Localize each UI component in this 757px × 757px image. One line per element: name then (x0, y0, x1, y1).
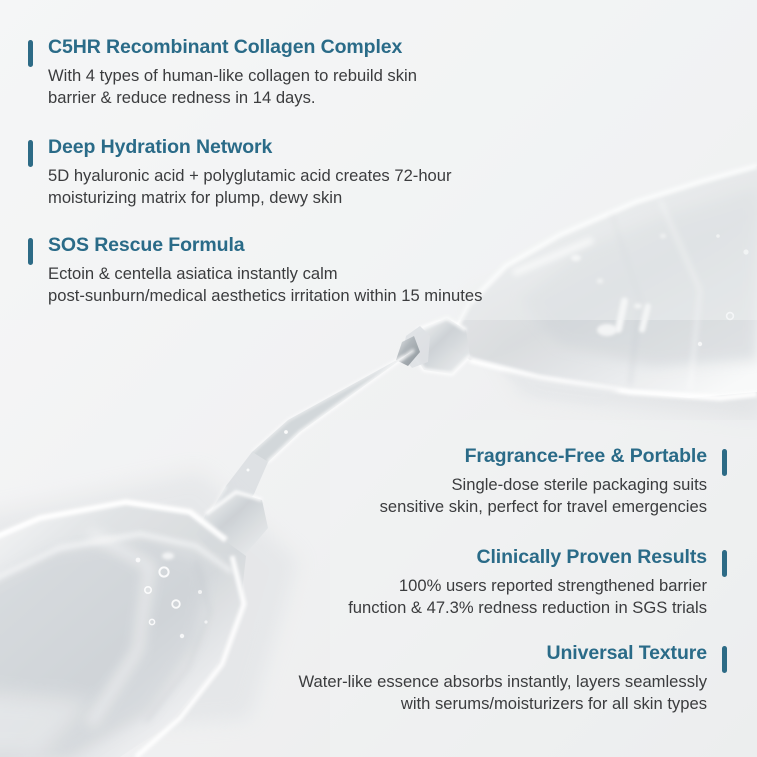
feature-body-line: Ectoin & centella asiatica instantly cal… (48, 263, 482, 285)
feature-body-line: barrier & reduce redness in 14 days. (48, 87, 417, 109)
accent-bar-hydration (28, 140, 33, 167)
feature-block-hydration: Deep Hydration Network 5D hyaluronic aci… (28, 136, 452, 209)
feature-title-sos: SOS Rescue Formula (48, 234, 482, 258)
feature-body-hydration: 5D hyaluronic acid + polyglutamic acid c… (48, 165, 452, 209)
feature-body-sos: Ectoin & centella asiatica instantly cal… (48, 263, 482, 307)
feature-body-line: post-sunburn/medical aesthetics irritati… (48, 285, 482, 307)
feature-body-line: Water-like essence absorbs instantly, la… (298, 671, 707, 693)
feature-title-collagen: C5HR Recombinant Collagen Complex (48, 36, 417, 60)
feature-body-line: 5D hyaluronic acid + polyglutamic acid c… (48, 165, 452, 187)
feature-block-fragrance: Fragrance-Free & Portable Single-dose st… (380, 445, 727, 518)
accent-bar-collagen (28, 40, 33, 67)
feature-title-clinical: Clinically Proven Results (348, 546, 707, 570)
feature-body-line: moisturizing matrix for plump, dewy skin (48, 187, 452, 209)
feature-body-line: Single-dose sterile packaging suits (380, 474, 707, 496)
feature-title-texture: Universal Texture (298, 642, 707, 666)
feature-body-clinical: 100% users reported strengthened barrier… (348, 575, 707, 619)
feature-block-collagen: C5HR Recombinant Collagen Complex With 4… (28, 36, 417, 109)
feature-block-sos: SOS Rescue Formula Ectoin & centella asi… (28, 234, 482, 307)
accent-bar-fragrance (722, 449, 727, 476)
accent-bar-texture (722, 646, 727, 673)
feature-body-line: function & 47.3% redness reduction in SG… (348, 597, 707, 619)
feature-body-line: With 4 types of human-like collagen to r… (48, 65, 417, 87)
feature-body-fragrance: Single-dose sterile packaging suits sens… (380, 474, 707, 518)
feature-title-hydration: Deep Hydration Network (48, 136, 452, 160)
feature-body-texture: Water-like essence absorbs instantly, la… (298, 671, 707, 715)
feature-body-line: with serums/moisturizers for all skin ty… (298, 693, 707, 715)
feature-block-texture: Universal Texture Water-like essence abs… (298, 642, 727, 715)
feature-title-fragrance: Fragrance-Free & Portable (380, 445, 707, 469)
feature-body-collagen: With 4 types of human-like collagen to r… (48, 65, 417, 109)
accent-bar-sos (28, 238, 33, 265)
feature-body-line: 100% users reported strengthened barrier (348, 575, 707, 597)
infographic-canvas: C5HR Recombinant Collagen Complex With 4… (0, 0, 757, 757)
accent-bar-clinical (722, 550, 727, 577)
feature-body-line: sensitive skin, perfect for travel emerg… (380, 496, 707, 518)
feature-block-clinical: Clinically Proven Results 100% users rep… (348, 546, 727, 619)
